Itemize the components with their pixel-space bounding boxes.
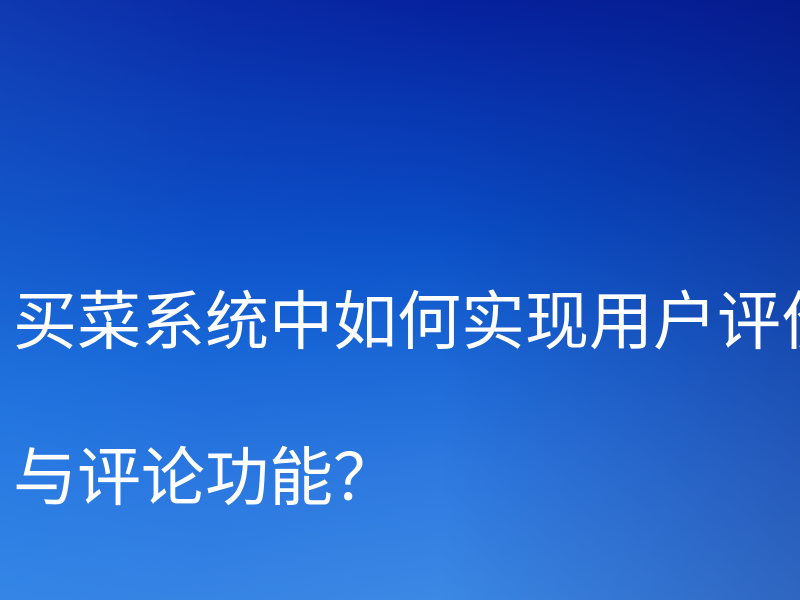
title-card: 买菜系统中如何实现用户评价 与评论功能？ [0, 0, 800, 600]
headline-line-1: 买菜系统中如何实现用户评价 [13, 284, 793, 362]
headline-line-2: 与评论功能？ [13, 440, 793, 518]
headline-title: 买菜系统中如何实现用户评价 与评论功能？ [13, 206, 793, 596]
